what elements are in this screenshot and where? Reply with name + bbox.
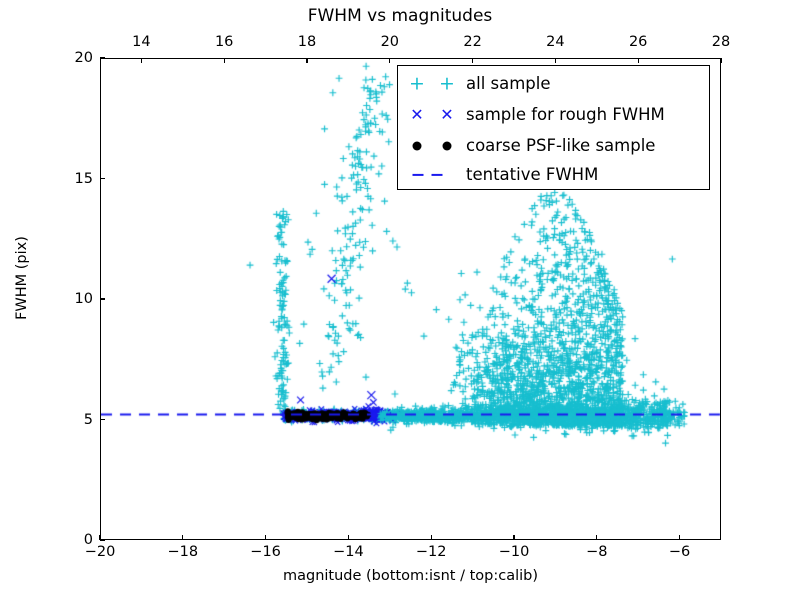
bottom-tick-mark	[265, 535, 266, 540]
legend-marker-all-sample: + +	[398, 68, 466, 99]
bottom-tick--6: −6	[669, 544, 690, 560]
top-tick-mark	[638, 58, 639, 63]
y-tick-5: 5	[84, 412, 93, 428]
y-tick-mark	[100, 298, 105, 299]
top-tick-mark	[555, 58, 556, 63]
legend-label-coarse-psf: coarse PSF-like sample	[466, 136, 655, 155]
legend-item-coarse-psf[interactable]: coarse PSF-like sample	[398, 130, 711, 161]
cross-icon: ✕	[410, 107, 423, 123]
chart-title: FWHM vs magnitudes	[0, 6, 800, 26]
top-tick-mark	[224, 58, 225, 63]
bottom-tick-mark	[513, 535, 514, 540]
top-tick-mark	[720, 58, 721, 63]
top-tick-mark	[141, 58, 142, 63]
dashed-line-icon	[413, 173, 424, 175]
y-tick-10: 10	[75, 291, 93, 307]
y-tick-0: 0	[84, 532, 93, 548]
y-tick-20: 20	[75, 50, 93, 66]
top-tick-28: 28	[712, 34, 730, 50]
bottom-tick--14: −14	[333, 544, 364, 560]
plus-icon: +	[409, 74, 425, 93]
dashed-line-icon	[432, 173, 443, 175]
bottom-tick-mark	[679, 535, 680, 540]
filled-circle-icon	[443, 141, 452, 150]
y-tick-mark	[100, 57, 105, 58]
figure-canvas: FWHM vs magnitudes magnitude (bottom:isn…	[0, 0, 800, 600]
bottom-tick--12: −12	[416, 544, 447, 560]
cross-icon: ✕	[440, 107, 453, 123]
y-tick-mark	[100, 178, 105, 179]
top-tick-20: 20	[381, 34, 399, 50]
chart-legend: + + all sample ✕ ✕ sample for rough FWHM…	[397, 65, 710, 190]
top-tick-16: 16	[215, 34, 233, 50]
top-tick-24: 24	[546, 34, 564, 50]
top-tick-mark	[306, 58, 307, 63]
y-tick-mark	[100, 539, 105, 540]
bottom-tick-mark	[596, 535, 597, 540]
top-tick-26: 26	[629, 34, 647, 50]
legend-marker-rough-fwhm: ✕ ✕	[398, 99, 466, 130]
legend-marker-coarse-psf	[398, 130, 466, 161]
top-tick-18: 18	[298, 34, 316, 50]
y-axis-label: FWHM (pix)	[14, 208, 30, 348]
bottom-tick--16: −16	[250, 544, 281, 560]
legend-item-tentative-fwhm[interactable]: tentative FWHM	[398, 159, 711, 190]
top-tick-mark	[472, 58, 473, 63]
bottom-tick-mark	[182, 535, 183, 540]
bottom-tick--8: −8	[586, 544, 607, 560]
plus-icon: +	[439, 74, 455, 93]
y-tick-mark	[100, 419, 105, 420]
legend-label-all-sample: all sample	[466, 74, 551, 93]
bottom-tick-mark	[348, 535, 349, 540]
bottom-tick--10: −10	[499, 544, 530, 560]
legend-item-all-sample[interactable]: + + all sample	[398, 68, 711, 99]
legend-item-rough-fwhm[interactable]: ✕ ✕ sample for rough FWHM	[398, 99, 711, 130]
legend-label-tentative-fwhm: tentative FWHM	[466, 165, 598, 184]
legend-label-rough-fwhm: sample for rough FWHM	[466, 105, 665, 124]
top-tick-14: 14	[132, 34, 150, 50]
y-tick-15: 15	[75, 171, 93, 187]
x-axis-label: magnitude (bottom:isnt / top:calib)	[100, 568, 721, 584]
top-tick-22: 22	[463, 34, 481, 50]
top-tick-mark	[389, 58, 390, 63]
legend-marker-tentative-fwhm	[398, 159, 466, 190]
bottom-tick-mark	[431, 535, 432, 540]
bottom-tick--18: −18	[167, 544, 198, 560]
filled-circle-icon	[413, 141, 422, 150]
